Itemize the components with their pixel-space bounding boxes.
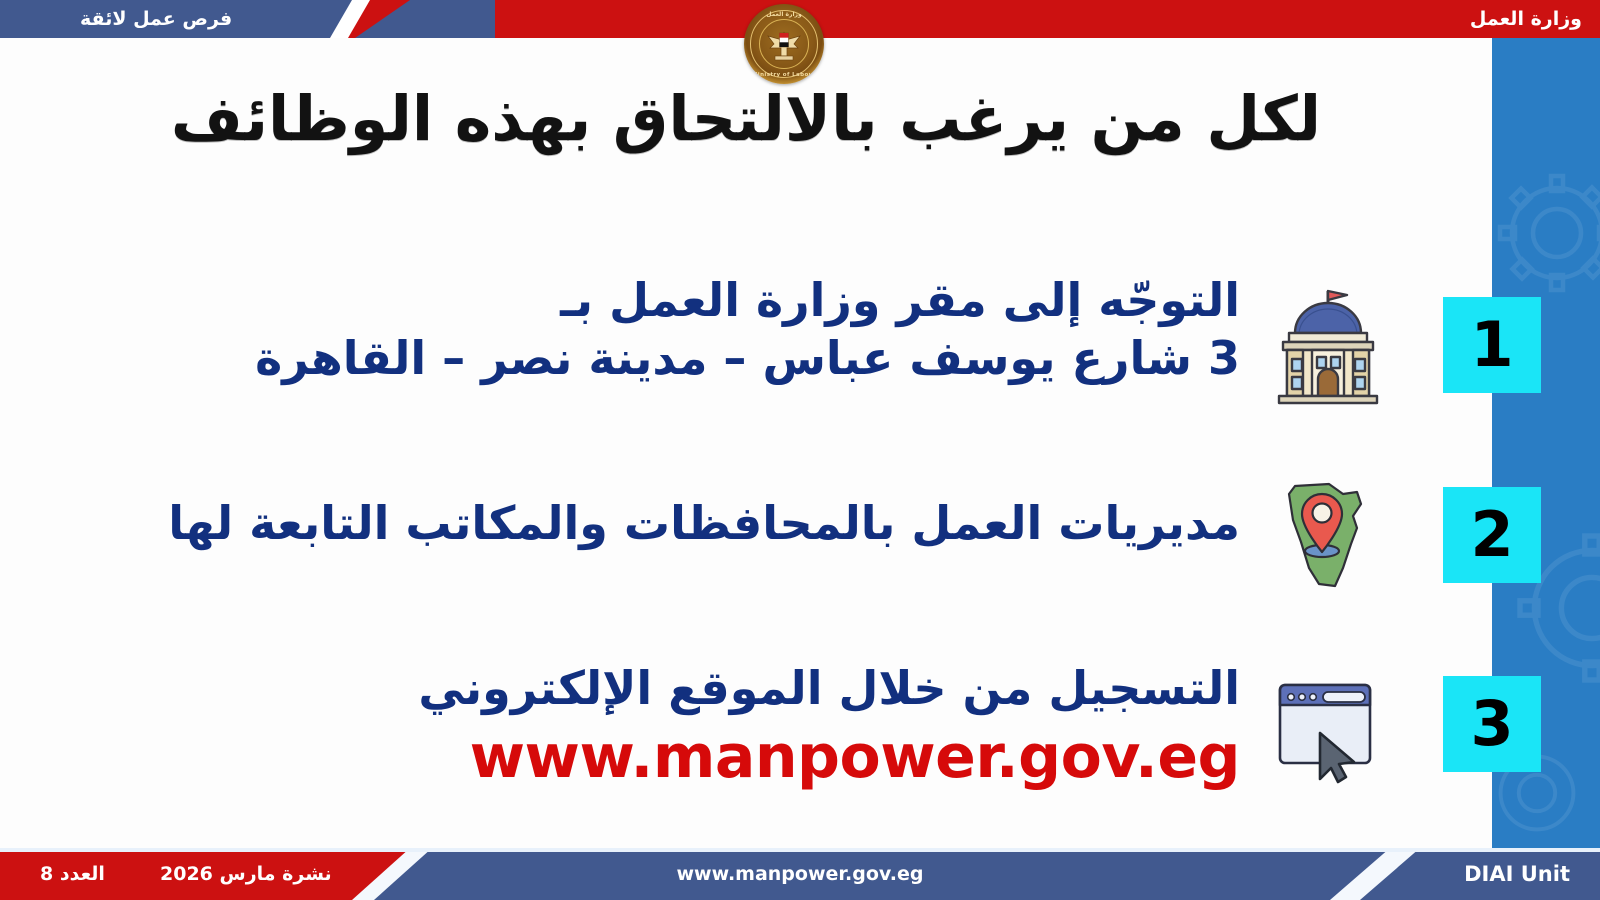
step-1-line-2: 3 شارع يوسف عباس – مدينة نصر – القاهرة [120, 330, 1240, 388]
step-badge-3: 3 [1443, 676, 1541, 772]
step-text-3: التسجيل من خلال الموقع الإلكتروني www.ma… [120, 660, 1240, 795]
ministry-emblem-icon: وزارة العمل Ministry of Labour [744, 4, 824, 84]
government-building-icon [1265, 285, 1390, 405]
banner-left-label: فرص عمل لائقة [80, 0, 232, 38]
footer-bulletin-date: نشرة مارس 2026 [160, 848, 332, 900]
step-2-line-1: مديريات العمل بالمحافظات والمكاتب التابع… [120, 495, 1240, 553]
footer-issue-number: العدد 8 [40, 848, 105, 900]
step-3-line-1: التسجيل من خلال الموقع الإلكتروني [120, 660, 1240, 718]
footer-bar: www.manpower.gov.eg العدد 8 نشرة مارس 20… [0, 848, 1600, 900]
eagle-of-saladin-icon [744, 4, 824, 84]
step-text-2: مديريات العمل بالمحافظات والمكاتب التابع… [120, 495, 1240, 553]
gear-watermark-icon [1492, 158, 1600, 308]
step-1-line-1: التوجّه إلى مقر وزارة العمل بـ [120, 272, 1240, 330]
banner-right-label: وزارة العمل [1470, 0, 1582, 38]
page-title: لكل من يرغب بالالتحاق بهذه الوظائف [0, 84, 1492, 153]
step-text-1: التوجّه إلى مقر وزارة العمل بـ 3 شارع يو… [120, 272, 1240, 387]
step-badge-1: 1 [1443, 297, 1541, 393]
browser-window-cursor-icon [1262, 665, 1387, 785]
manpower-website-url[interactable]: www.manpower.gov.eg [120, 720, 1240, 795]
footer-unit-label: DIAI Unit [1464, 848, 1570, 900]
egypt-map-pin-icon [1265, 472, 1390, 592]
infographic-poster: فرص عمل لائقة وزارة العمل وزارة العمل Mi… [0, 0, 1600, 900]
step-badge-2: 2 [1443, 487, 1541, 583]
